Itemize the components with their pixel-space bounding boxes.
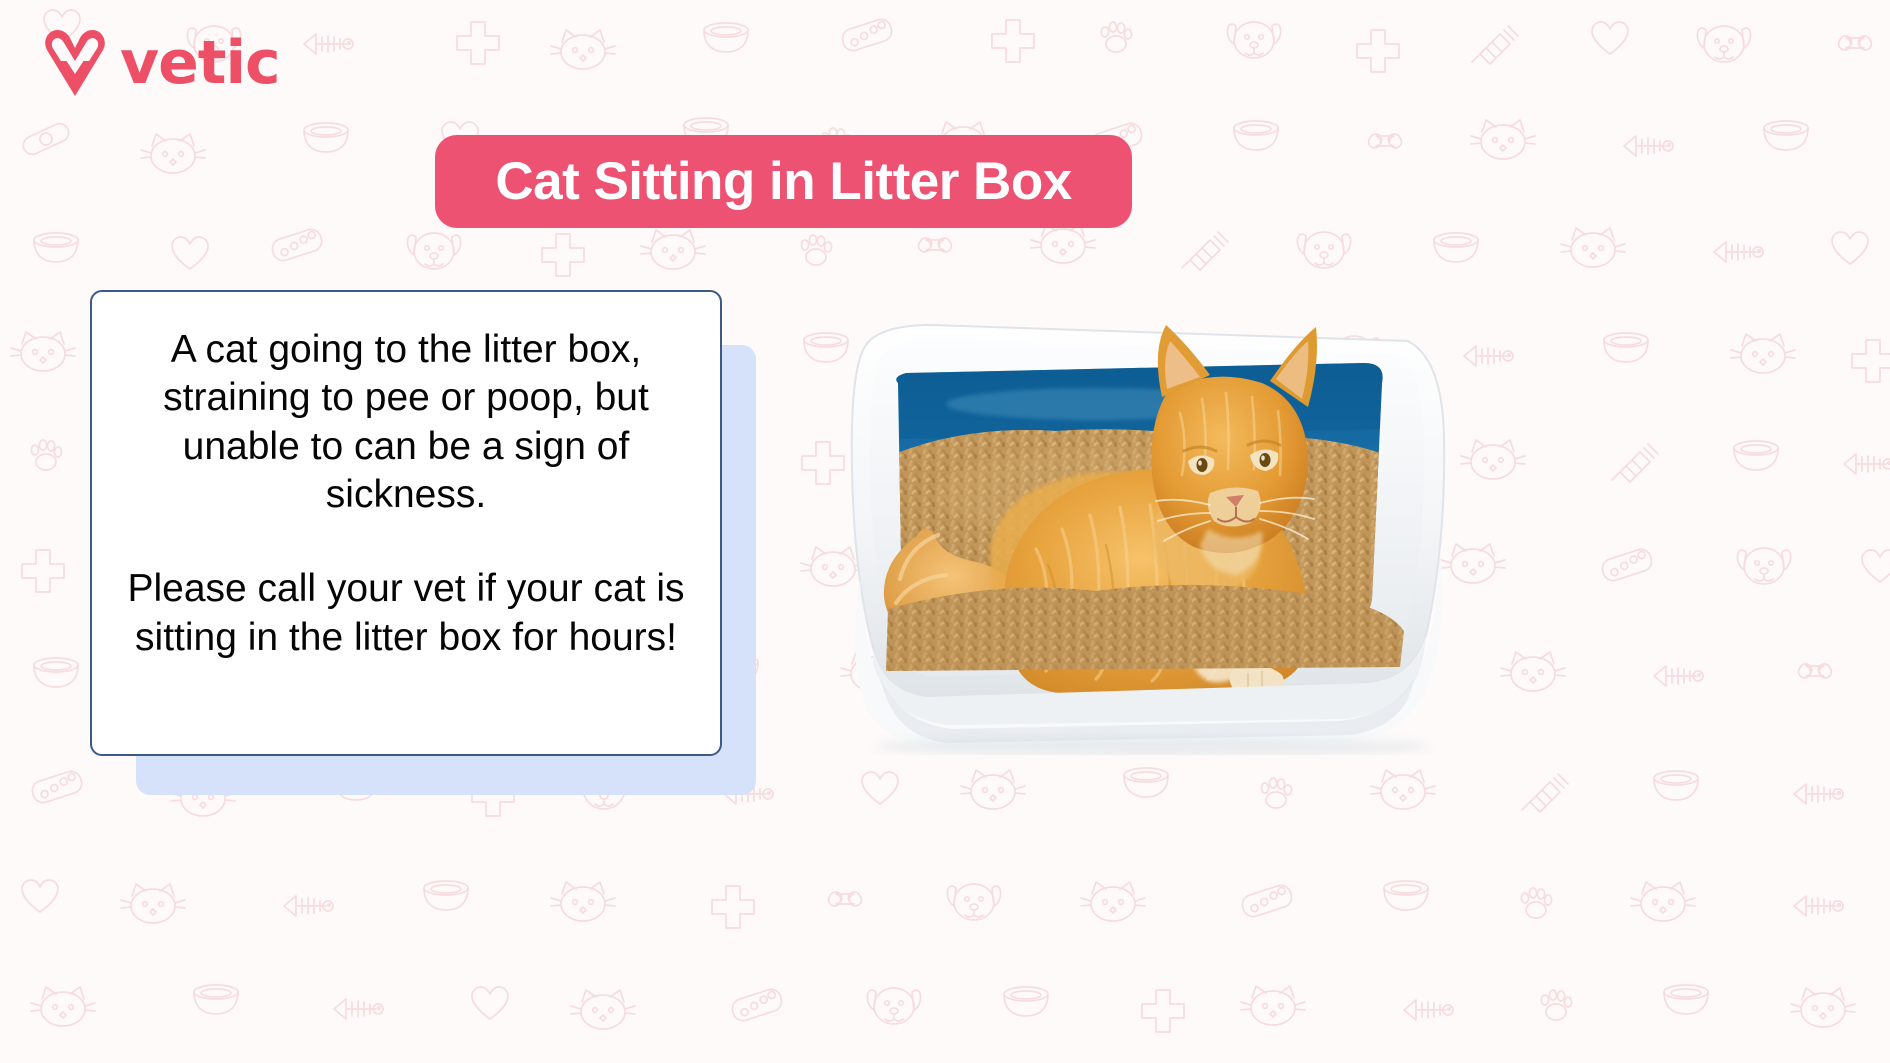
heart-v-logo-icon bbox=[44, 28, 106, 98]
paragraph-spacer bbox=[116, 519, 696, 565]
poster-canvas: vetic Cat Sitting in Litter Box A cat go… bbox=[0, 0, 1890, 1063]
brand-wordmark: vetic bbox=[120, 33, 280, 93]
info-paragraph-1: A cat going to the litter box, straining… bbox=[116, 326, 696, 519]
page-title: Cat Sitting in Litter Box bbox=[495, 151, 1071, 212]
cat-in-litter-box-photo bbox=[796, 279, 1476, 755]
info-card: A cat going to the litter box, straining… bbox=[90, 290, 722, 756]
title-banner: Cat Sitting in Litter Box bbox=[435, 135, 1132, 228]
brand-logo[interactable]: vetic bbox=[44, 28, 280, 98]
info-paragraph-2: Please call your vet if your cat is sitt… bbox=[116, 565, 696, 662]
